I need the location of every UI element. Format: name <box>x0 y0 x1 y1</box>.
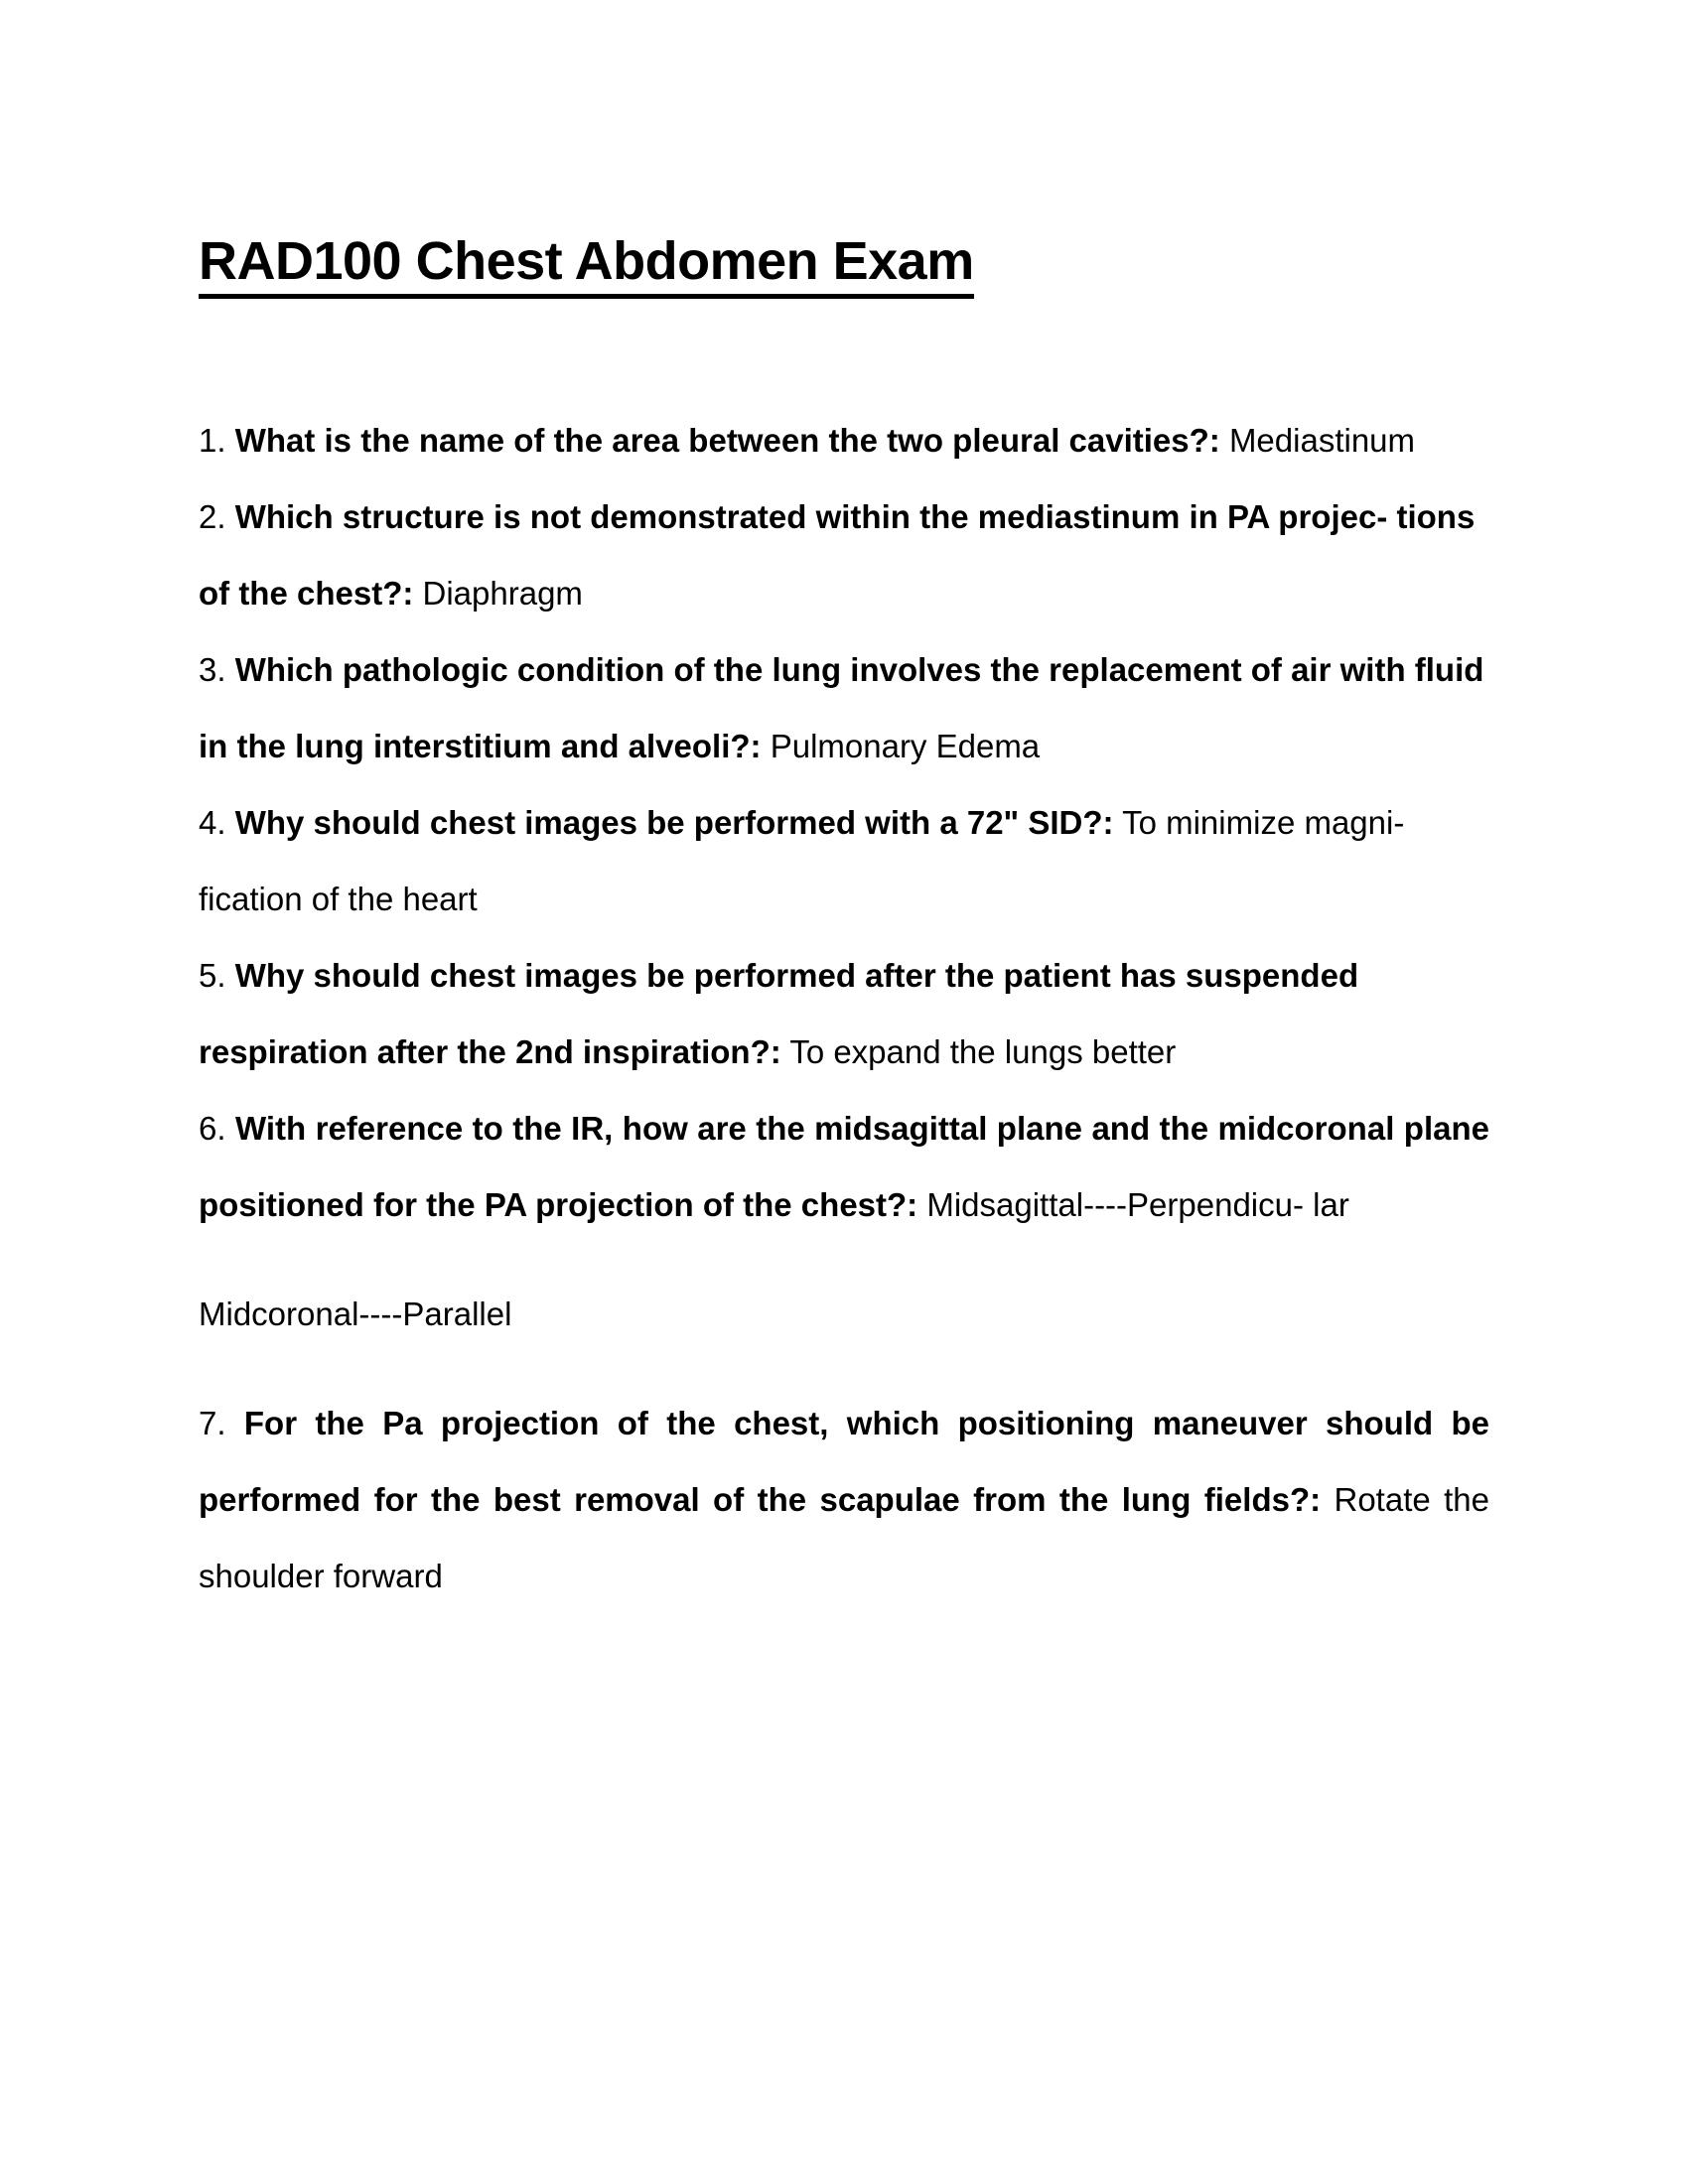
qa-answer: Midsagittal----Perpendicu- lar <box>926 1186 1348 1223</box>
qa-item-7: 7. For the Pa projection of the chest, w… <box>199 1385 1489 1614</box>
qa-number: 2. <box>199 498 226 535</box>
qa-answer: To expand the lungs better <box>789 1033 1176 1070</box>
qa-item-3: 3. Which pathologic condition of the lun… <box>199 631 1489 784</box>
qa-item-6: 6. With reference to the IR, how are the… <box>199 1090 1489 1243</box>
qa-number: 5. <box>199 957 226 994</box>
qa-number: 4. <box>199 804 226 841</box>
qa-item-2: 2. Which structure is not demonstrated w… <box>199 478 1489 631</box>
qa-question: What is the name of the area between the… <box>235 422 1220 459</box>
qa-question: Why should chest images be performed aft… <box>199 957 1358 1070</box>
qa-answer: Diaphragm <box>423 575 583 612</box>
qa-number: 6. <box>199 1110 226 1147</box>
qa-list: 1. What is the name of the area between … <box>199 299 1489 1614</box>
qa-answer: Mediastinum <box>1229 422 1415 459</box>
qa-question: For the Pa projection of the chest, whic… <box>199 1405 1489 1518</box>
page-title-text: RAD100 Chest Abdomen Exam <box>199 230 974 299</box>
qa-question: Why should chest images be performed wit… <box>235 804 1114 841</box>
qa-item-6-answer-line2: Midcoronal----Parallel <box>199 1276 1489 1352</box>
document-page: RAD100 Chest Abdomen Exam 1. What is the… <box>0 0 1688 2184</box>
qa-number: 7. <box>199 1405 226 1441</box>
page-title: RAD100 Chest Abdomen Exam <box>199 0 1489 299</box>
qa-question: Which structure is not demonstrated with… <box>199 498 1475 612</box>
qa-number: 1. <box>199 422 226 459</box>
document-content: RAD100 Chest Abdomen Exam 1. What is the… <box>199 0 1489 1614</box>
qa-item-4: 4. Why should chest images be performed … <box>199 784 1489 937</box>
qa-item-5: 5. Why should chest images be performed … <box>199 937 1489 1090</box>
qa-number: 3. <box>199 651 226 688</box>
qa-item-1: 1. What is the name of the area between … <box>199 402 1489 478</box>
qa-answer: Pulmonary Edema <box>771 728 1040 764</box>
